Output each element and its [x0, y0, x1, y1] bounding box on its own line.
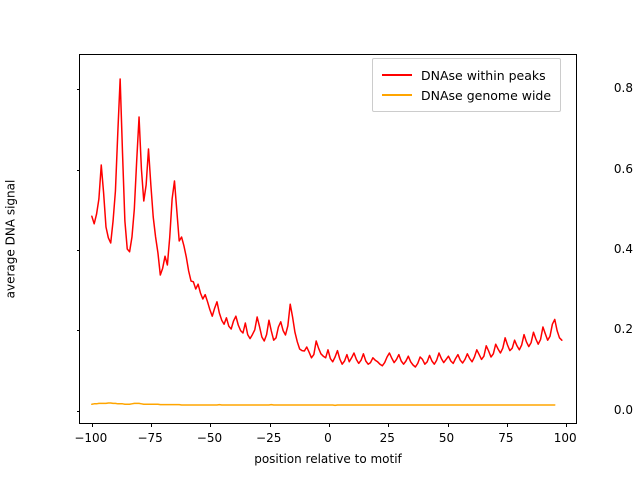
x-tick-label: 100	[554, 431, 577, 445]
y-axis-label-text: average DNA signal	[3, 180, 17, 299]
legend: DNAse within peaks DNAse genome wide	[372, 58, 561, 112]
y-tick-label: 0.2	[614, 322, 633, 336]
y-tick-label: 0.8	[614, 81, 633, 95]
y-tick-mark	[77, 89, 81, 90]
legend-label-1: DNAse genome wide	[421, 88, 551, 103]
x-tick-mark	[92, 423, 93, 427]
x-tick-mark	[151, 423, 152, 427]
x-tick-label: −75	[137, 431, 162, 445]
series-line-0	[92, 79, 562, 367]
x-tick-label: 75	[498, 431, 513, 445]
x-tick-label: −50	[197, 431, 222, 445]
y-tick-label: 0.4	[614, 242, 633, 256]
series-line-1	[92, 403, 555, 405]
x-tick-mark	[210, 423, 211, 427]
y-tick-label: 0.0	[614, 403, 633, 417]
y-tick-mark	[77, 250, 81, 251]
x-tick-mark	[448, 423, 449, 427]
x-tick-mark	[329, 423, 330, 427]
x-tick-label: 25	[380, 431, 395, 445]
legend-label-0: DNAse within peaks	[421, 68, 546, 83]
legend-swatch-line-orange	[382, 94, 412, 96]
y-tick-mark	[77, 330, 81, 331]
y-tick-label: 0.6	[614, 162, 633, 176]
legend-swatch-line-red	[382, 74, 412, 76]
legend-item-0: DNAse within peaks	[382, 65, 551, 85]
x-axis-label: position relative to motif	[79, 452, 577, 466]
x-tick-mark	[270, 423, 271, 427]
x-tick-label: 50	[439, 431, 454, 445]
x-tick-mark	[566, 423, 567, 427]
x-tick-mark	[507, 423, 508, 427]
x-tick-mark	[388, 423, 389, 427]
figure-canvas: average DNA signal position relative to …	[0, 0, 640, 480]
y-tick-mark	[77, 170, 81, 171]
x-tick-label: 0	[324, 431, 332, 445]
x-tick-label: −25	[256, 431, 281, 445]
y-axis-label: average DNA signal	[0, 54, 20, 424]
y-tick-mark	[77, 411, 81, 412]
x-tick-label: −100	[74, 431, 107, 445]
legend-item-1: DNAse genome wide	[382, 85, 551, 105]
